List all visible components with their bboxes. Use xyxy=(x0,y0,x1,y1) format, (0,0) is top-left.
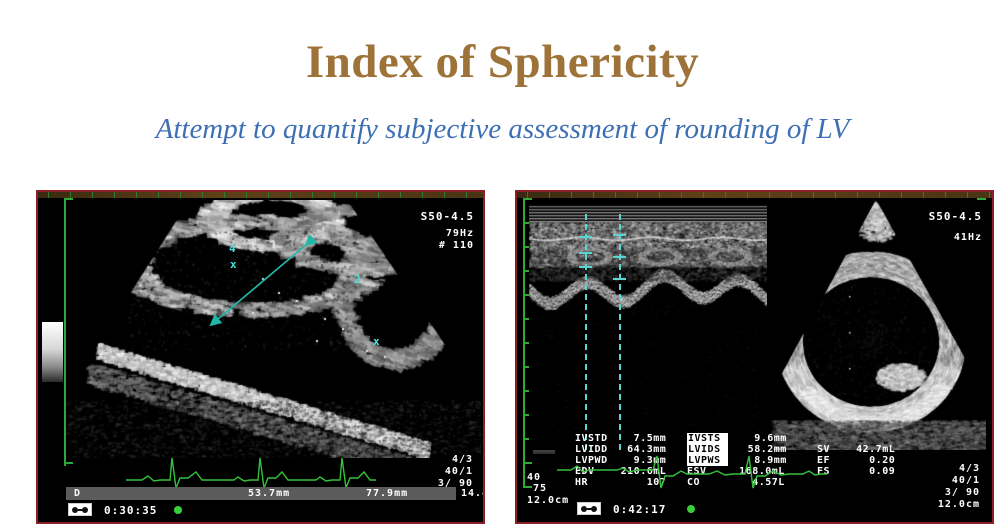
page-subtitle: Attempt to quantify subjective assessmen… xyxy=(0,114,1005,146)
left-measure-2: 77.9mm xyxy=(366,488,408,499)
ultrasound-image-left[interactable]: 4 x 2 x S50-4.5 xyxy=(36,190,485,524)
left-measurement-arrow xyxy=(66,200,481,458)
left-setting-line2: 40/1 xyxy=(445,466,473,477)
page-title: Index of Sphericity xyxy=(0,38,1005,87)
left-grayscale-bar xyxy=(42,322,63,382)
right-frame-rate: 41Hz xyxy=(954,232,982,243)
right-depth-ruler-left xyxy=(523,198,525,488)
caliper-tick-2 xyxy=(579,252,592,254)
right-top-tickmarks xyxy=(517,192,992,198)
caliper-tick-4 xyxy=(613,234,626,236)
right-mmode-canvas xyxy=(529,200,767,450)
right-gain-top: 40 xyxy=(527,472,541,483)
left-status-strip: D 53.7mm 77.9mm xyxy=(66,487,456,500)
caliper-tick-5 xyxy=(613,256,626,258)
left-top-tickmarks xyxy=(38,192,483,198)
right-setting-line3: 3/ 90 xyxy=(945,487,980,498)
left-depth-value: 14.4cm xyxy=(461,488,485,499)
left-frame-rate: 79Hz xyxy=(446,228,474,239)
left-timer: 0:30:35 xyxy=(104,504,157,517)
right-screen: S50-4.5 41Hz IVSTD 7.5mmLVIDD 64.3mmLVPW… xyxy=(517,192,992,522)
left-setting-line1: 4/3 xyxy=(452,454,473,465)
caliper-line-1[interactable] xyxy=(585,214,587,450)
caliper-line-2[interactable] xyxy=(619,214,621,450)
ultrasound-image-right[interactable]: S50-4.5 41Hz IVSTD 7.5mmLVIDD 64.3mmLVPW… xyxy=(515,190,994,524)
measurement-table-right: SV 42.7mLEF 0.20FS 0.09 xyxy=(817,444,895,477)
right-setting-line4: 12.0cm xyxy=(938,499,980,510)
left-echo-sector-image: 4 x 2 x xyxy=(66,200,481,458)
right-depth-label: 12.0cm xyxy=(527,495,569,506)
left-probe-label: S50-4.5 xyxy=(421,210,474,223)
right-gain-bottom: 75 xyxy=(533,483,547,494)
right-timer: 0:42:17 xyxy=(613,503,666,516)
right-setting-line2: 40/1 xyxy=(952,475,980,486)
left-measure-1: 53.7mm xyxy=(248,488,290,499)
left-screen: 4 x 2 x S50-4.5 xyxy=(38,192,483,522)
right-probe-label: S50-4.5 xyxy=(929,210,982,223)
caliper-tick-3 xyxy=(579,266,592,268)
left-frame-number: # 110 xyxy=(439,240,474,251)
caliper-tick-6 xyxy=(613,278,626,280)
right-mmode-image xyxy=(529,200,767,450)
caliper-tick-1 xyxy=(579,236,592,238)
left-mode-letter: D xyxy=(74,488,81,499)
slide-root: Index of Sphericity Attempt to quantify … xyxy=(0,0,1005,532)
record-dot-icon xyxy=(174,506,182,514)
record-dot-icon xyxy=(687,505,695,513)
cassette-icon[interactable] xyxy=(68,503,92,516)
cassette-icon[interactable] xyxy=(577,502,601,515)
right-ecg-trace xyxy=(557,454,827,496)
right-setting-line1: 4/3 xyxy=(959,463,980,474)
